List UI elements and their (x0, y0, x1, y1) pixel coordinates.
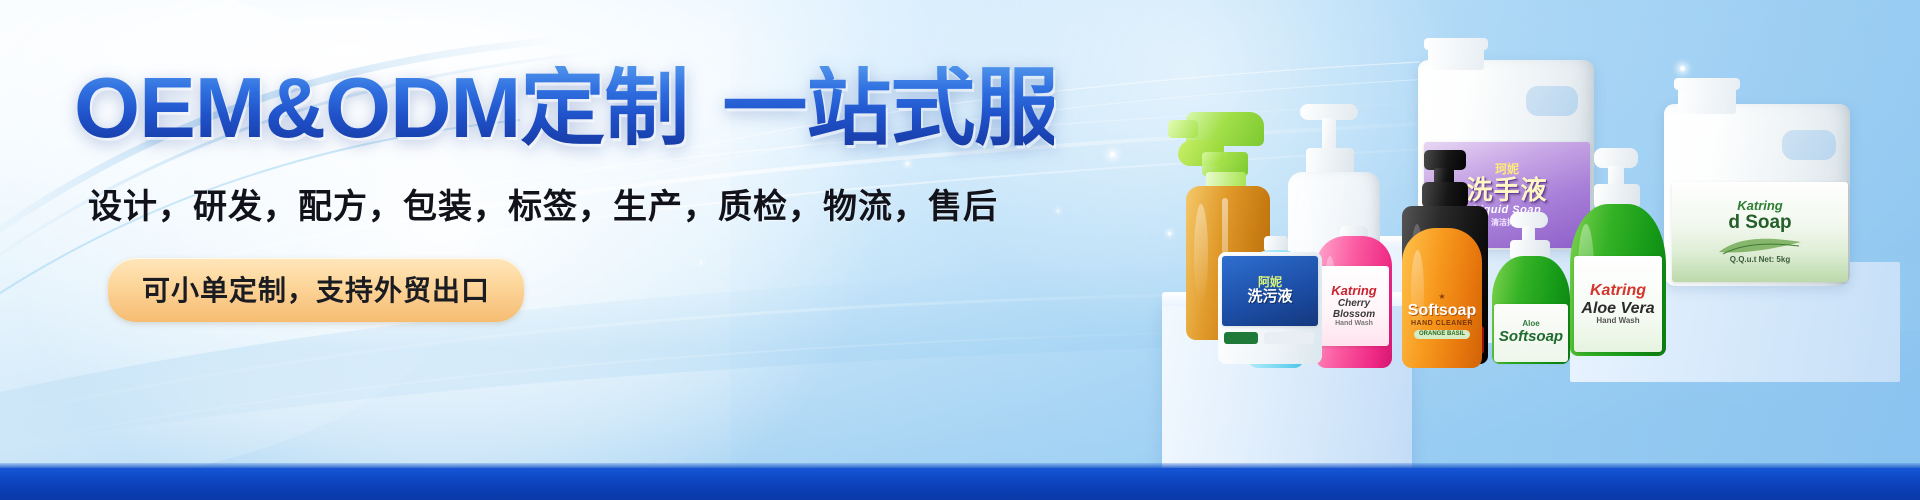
aloe-leaf-icon (1715, 234, 1805, 256)
label-subtitle-en: HAND CLEANER (1411, 320, 1473, 328)
page-title: OEM&ODM定制一站式服务 (74, 66, 1054, 153)
custom-order-badge[interactable]: 可小单定制，支持外贸出口 (108, 258, 524, 322)
jug-detergent-blue: 阿妮 洗污液 (1218, 252, 1322, 364)
promo-banner: OEM&ODM定制一站式服务 设计，研发，配方，包装，标签，生产，质检，物流，售… (0, 0, 1920, 500)
jug-green-label: Katring d Soap Q.Q.u.t Net: 5kg (1672, 182, 1848, 282)
cherry-blossom-label: Katring Cherry Blossom Hand Wash (1319, 266, 1389, 346)
label-brand: Softsoap (1499, 329, 1563, 346)
detergent-label: 阿妮 洗污液 (1222, 256, 1318, 326)
label-net: Q.Q.u.t Net: 5kg (1730, 256, 1790, 265)
label-subtitle-en: Hand Wash (1596, 317, 1639, 326)
bottle-cherry-blossom: Katring Cherry Blossom Hand Wash (1316, 226, 1392, 368)
aloe-vera-label: Katring Aloe Vera Hand Wash (1574, 256, 1662, 352)
label-brand: Katring (1590, 282, 1646, 300)
headline-main: OEM&ODM定制 (74, 61, 688, 156)
label-title-en: Aloe Vera (1581, 300, 1654, 318)
label-title-cn: 洗污液 (1247, 289, 1292, 306)
label-subtitle-en: Hand Wash (1335, 320, 1373, 328)
label-brand: Katring (1737, 199, 1783, 213)
headline-sub: 一站式服务 (722, 61, 1142, 156)
bottom-bar (0, 468, 1920, 500)
softsoap-green-label: Aloe Softsoap (1494, 304, 1568, 362)
banner-copy: OEM&ODM定制一站式服务 设计，研发，配方，包装，标签，生产，质检，物流，售… (74, 66, 1054, 322)
label-badge-top: ★ (1438, 293, 1445, 302)
label-badge: ORANGE BASIL (1414, 330, 1470, 339)
label-title-en: Cherry Blossom (1319, 298, 1389, 320)
label-brand: Katring (1331, 284, 1377, 298)
bottle-aloe-vera: Katring Aloe Vera Hand Wash (1570, 148, 1666, 356)
jug-hand-soap-green: Katring d Soap Q.Q.u.t Net: 5kg (1664, 78, 1850, 286)
bottle-softsoap-green: Aloe Softsoap (1492, 212, 1570, 364)
label-brand: 珂妮 (1495, 163, 1519, 176)
softsoap-orange-label: ★ Softsoap HAND CLEANER ORANGE BASIL (1408, 280, 1476, 352)
label-title-en: d Soap (1728, 213, 1791, 234)
product-showcase: 珂妮 洗手液 Liquid Soap 清洁抑菌 Katring d Soap Q… (1140, 0, 1920, 500)
service-list-subtitle: 设计，研发，配方，包装，标签，生产，质检，物流，售后 (88, 179, 1054, 228)
sparkle-icon (1057, 210, 1059, 212)
bottle-softsoap-orange: ★ Softsoap HAND CLEANER ORANGE BASIL (1402, 228, 1482, 368)
label-brand: Softsoap (1408, 302, 1476, 320)
